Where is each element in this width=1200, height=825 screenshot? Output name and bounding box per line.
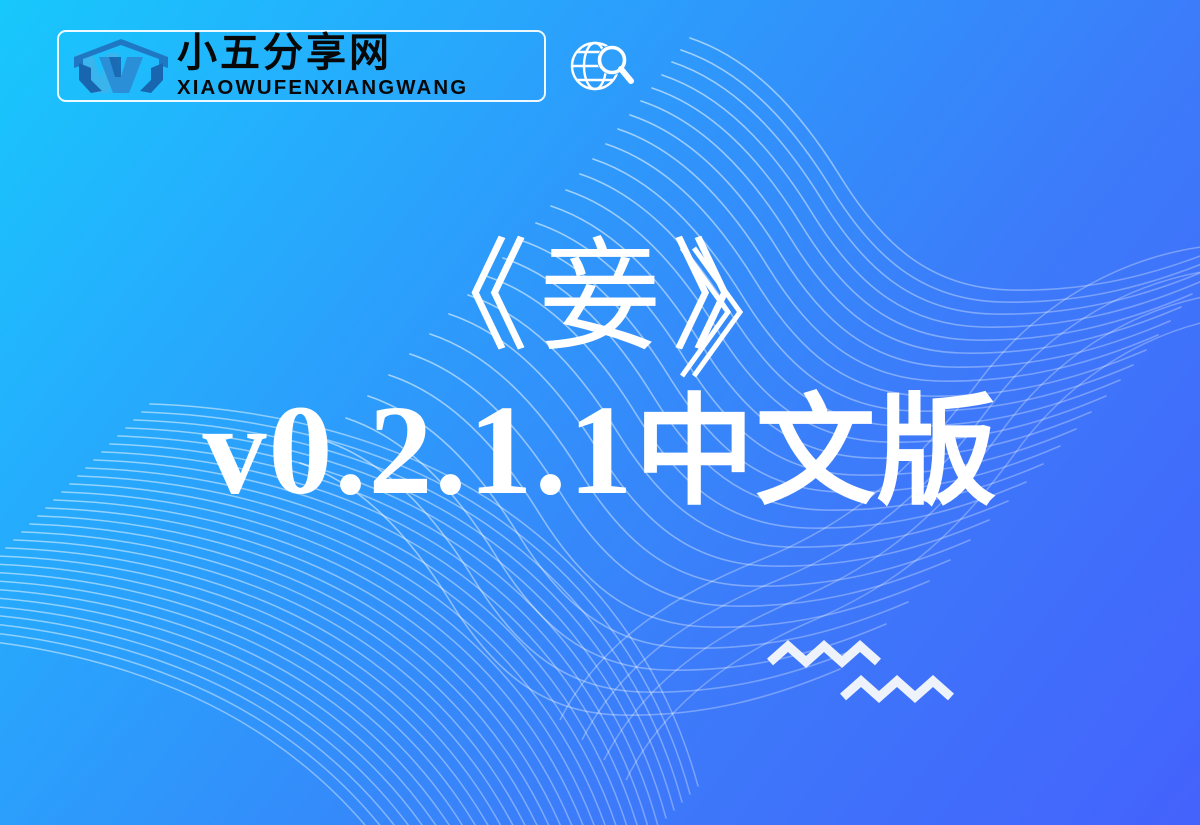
version-suffix: 中文版 [635,383,998,522]
version-line: v0.2.1.1中文版 [0,386,1200,514]
brand-wordmark: 小五分享网 XIAOWUFENXIANGWANG [177,33,463,100]
brand-name-en: XIAOWUFENXIANGWANG [177,78,468,98]
globe-search-icon [568,35,634,97]
zigzag-line-icon [770,646,951,697]
brand-logo-box: 小五分享网 XIAOWUFENXIANGWANG [57,30,546,102]
shield-w-logo-icon [69,35,173,97]
brand-name-cn: 小五分享网 [177,33,463,73]
s-curve-line-fan-icon [300,38,1200,715]
watermark-logo-row: 小五分享网 XIAOWUFENXIANGWANG [57,30,634,102]
page-title: 《妾》 [0,236,1200,358]
version-number: v0.2.1.1 [203,379,635,521]
promo-banner: 小五分享网 XIAOWUFENXIANGWANG [0,0,1200,825]
